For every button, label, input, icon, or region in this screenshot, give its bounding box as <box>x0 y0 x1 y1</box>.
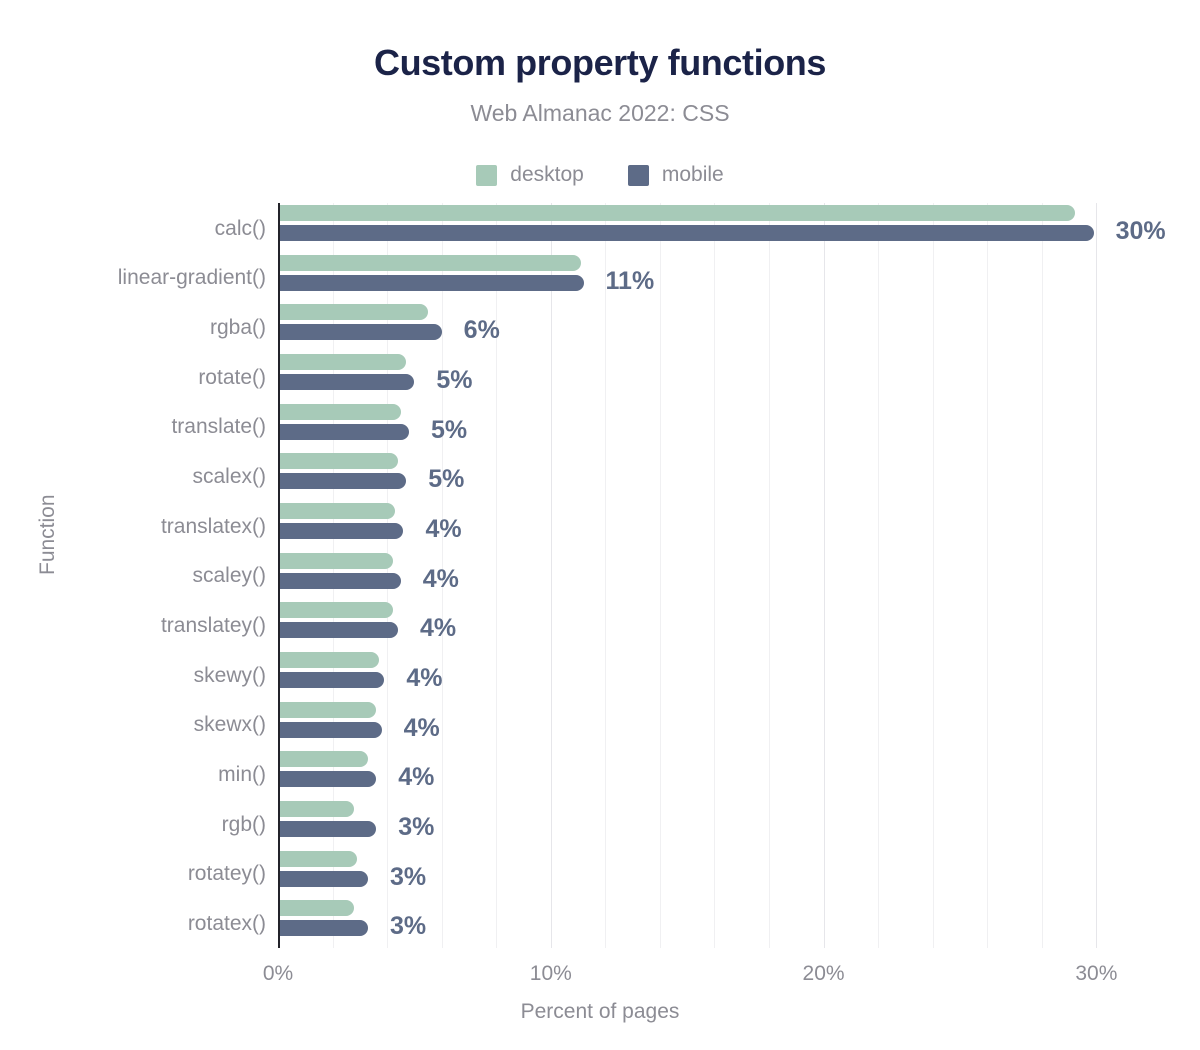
y-axis-category-label: scalex() <box>192 466 266 487</box>
chart-subtitle: Web Almanac 2022: CSS <box>0 100 1200 127</box>
bar-row: translate()5% <box>278 402 1110 452</box>
bar-row: calc()30% <box>278 203 1110 253</box>
x-axis-tick-label: 0% <box>263 962 293 986</box>
bar-desktop[interactable] <box>278 205 1075 221</box>
legend-item-label: desktop <box>510 163 584 187</box>
bar-desktop[interactable] <box>278 602 393 618</box>
bar-value-label: 4% <box>423 567 459 592</box>
bar-row: skewy()4% <box>278 650 1110 700</box>
y-axis-category-label: calc() <box>215 218 266 239</box>
bar-value-label: 6% <box>464 318 500 343</box>
bar-mobile[interactable] <box>278 771 376 787</box>
bar-mobile[interactable] <box>278 473 406 489</box>
y-axis-category-label: translatex() <box>161 516 266 537</box>
bar-desktop[interactable] <box>278 304 428 320</box>
bar-value-label: 4% <box>425 517 461 542</box>
bar-mobile[interactable] <box>278 573 401 589</box>
bar-value-label: 5% <box>428 467 464 492</box>
y-axis-category-label: rotatey() <box>188 863 266 884</box>
bar-value-label: 3% <box>398 815 434 840</box>
y-axis-category-label: linear-gradient() <box>118 267 266 288</box>
y-axis-line <box>278 203 280 948</box>
bar-desktop[interactable] <box>278 652 379 668</box>
bar-mobile[interactable] <box>278 871 368 887</box>
y-axis-category-label: translatey() <box>161 615 266 636</box>
bar-row: skewx()4% <box>278 700 1110 750</box>
chart-figure: Custom property functions Web Almanac 20… <box>0 0 1200 1050</box>
bar-row: rotatey()3% <box>278 849 1110 899</box>
bar-row: linear-gradient()11% <box>278 253 1110 303</box>
bar-desktop[interactable] <box>278 900 354 916</box>
bar-row: min()4% <box>278 749 1110 799</box>
y-axis-category-label: skewy() <box>194 665 266 686</box>
x-axis-tick-label: 30% <box>1075 962 1117 986</box>
bar-mobile[interactable] <box>278 275 584 291</box>
bar-desktop[interactable] <box>278 354 406 370</box>
bar-mobile[interactable] <box>278 722 382 738</box>
y-axis-category-label: min() <box>218 764 266 785</box>
legend-item-desktop[interactable]: desktop <box>476 163 584 187</box>
bar-desktop[interactable] <box>278 702 376 718</box>
bar-mobile[interactable] <box>278 920 368 936</box>
bar-mobile[interactable] <box>278 374 414 390</box>
bar-desktop[interactable] <box>278 255 581 271</box>
bar-mobile[interactable] <box>278 324 442 340</box>
x-axis-title: Percent of pages <box>0 1000 1200 1024</box>
bar-value-label: 5% <box>436 368 472 393</box>
bar-desktop[interactable] <box>278 751 368 767</box>
bar-mobile[interactable] <box>278 622 398 638</box>
bar-desktop[interactable] <box>278 503 395 519</box>
bar-value-label: 4% <box>420 616 456 641</box>
x-axis-tick-label: 20% <box>803 962 845 986</box>
bar-desktop[interactable] <box>278 453 398 469</box>
y-axis-category-label: skewx() <box>194 714 266 735</box>
bar-row: rotate()5% <box>278 352 1110 402</box>
bar-desktop[interactable] <box>278 404 401 420</box>
bar-row: scaley()4% <box>278 551 1110 601</box>
bar-value-label: 11% <box>606 269 655 294</box>
bar-value-label: 4% <box>406 666 442 691</box>
bar-row: rgb()3% <box>278 799 1110 849</box>
x-axis-tick-label: 10% <box>530 962 572 986</box>
bar-row: translatex()4% <box>278 501 1110 551</box>
bar-desktop[interactable] <box>278 851 357 867</box>
legend-item-mobile[interactable]: mobile <box>628 163 724 187</box>
bar-row: rotatex()3% <box>278 898 1110 948</box>
legend-item-label: mobile <box>662 163 724 187</box>
bar-row: translatey()4% <box>278 600 1110 650</box>
bar-desktop[interactable] <box>278 553 393 569</box>
bar-row: scalex()5% <box>278 451 1110 501</box>
bar-value-label: 30% <box>1116 219 1166 244</box>
y-axis-category-label: scaley() <box>192 565 266 586</box>
y-axis-category-label: rotatex() <box>188 913 266 934</box>
bar-value-label: 3% <box>390 865 426 890</box>
bar-mobile[interactable] <box>278 672 384 688</box>
square-swatch-icon <box>628 165 649 186</box>
bar-row: rgba()6% <box>278 302 1110 352</box>
bar-value-label: 3% <box>390 914 426 939</box>
chart-title: Custom property functions <box>0 42 1200 84</box>
bar-desktop[interactable] <box>278 801 354 817</box>
plot-area: calc()30%linear-gradient()11%rgba()6%rot… <box>278 203 1110 948</box>
bar-value-label: 4% <box>398 765 434 790</box>
y-axis-category-label: translate() <box>171 416 266 437</box>
square-swatch-icon <box>476 165 497 186</box>
bar-mobile[interactable] <box>278 424 409 440</box>
bar-mobile[interactable] <box>278 225 1094 241</box>
chart-legend: desktop mobile <box>0 163 1200 187</box>
bar-mobile[interactable] <box>278 523 403 539</box>
y-axis-category-label: rgba() <box>210 317 266 338</box>
y-axis-title: Function <box>36 494 60 575</box>
y-axis-category-label: rgb() <box>222 814 266 835</box>
bar-value-label: 4% <box>404 716 440 741</box>
bar-value-label: 5% <box>431 418 467 443</box>
y-axis-category-label: rotate() <box>198 367 266 388</box>
bar-mobile[interactable] <box>278 821 376 837</box>
